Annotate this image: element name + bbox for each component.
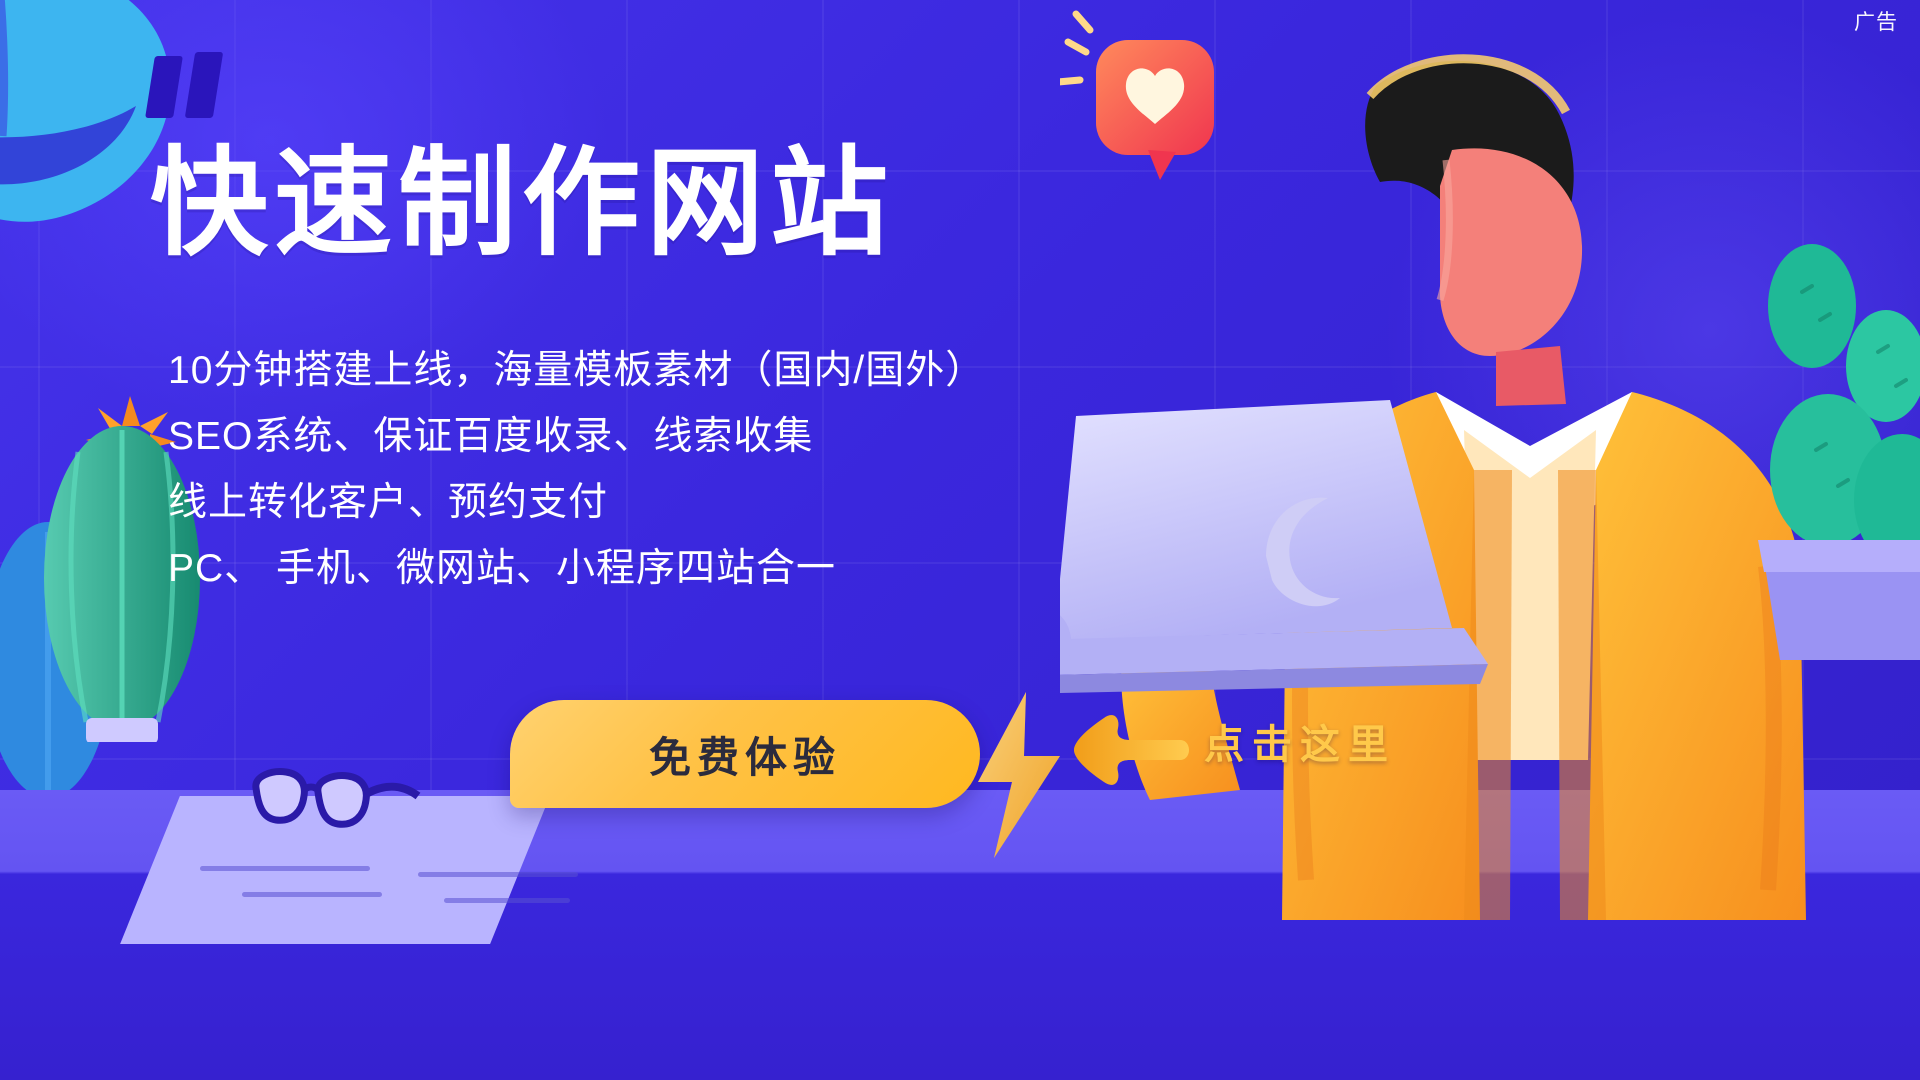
- glasses-icon: [238, 762, 428, 854]
- list-item: 线上转化客户、预约支付: [168, 472, 985, 534]
- page-title: 快速制作网站: [150, 138, 894, 270]
- click-here-hint: 点击这里: [1204, 712, 1396, 770]
- arrow-left-icon: [1068, 700, 1198, 800]
- potted-cactus-icon: [1758, 244, 1920, 660]
- paper-line: [242, 892, 382, 897]
- heart-like-bubble-icon: [1060, 14, 1214, 180]
- person-pointing-illustration: [1060, 0, 1920, 1080]
- list-item: PC、 手机、微网站、小程序四站合一: [168, 538, 985, 600]
- list-item: 10分钟搭建上线，海量模板素材（国内/国外）: [168, 340, 985, 402]
- paper-line: [418, 872, 578, 877]
- lightning-bolt-icon: [968, 690, 1078, 860]
- paper-line: [200, 866, 370, 871]
- list-item: SEO系统、保证百度收录、线索收集: [168, 406, 985, 468]
- quote-mark-icon: [150, 52, 230, 123]
- feature-list: 10分钟搭建上线，海量模板素材（国内/国外） SEO系统、保证百度收录、线索收集…: [168, 340, 985, 604]
- ad-disclosure-label: 广告: [1854, 6, 1898, 36]
- paper-line: [444, 898, 570, 903]
- ad-banner: 广告: [0, 0, 1920, 1080]
- free-trial-button[interactable]: 免费体验: [510, 700, 980, 808]
